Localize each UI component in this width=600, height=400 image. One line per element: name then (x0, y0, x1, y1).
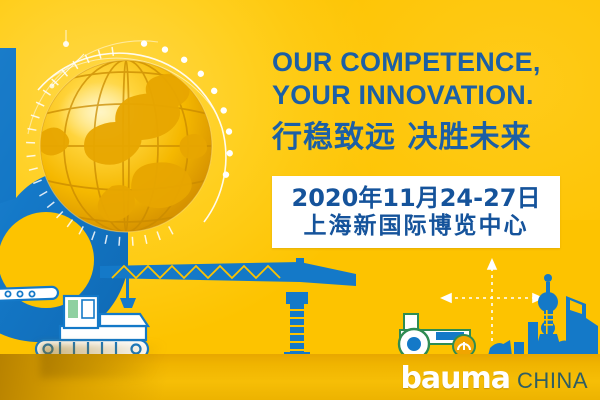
logo-region-text: CHINA (517, 370, 588, 392)
golden-globe-graphic (8, 24, 260, 276)
shanghai-skyline (486, 274, 598, 361)
road-roller-icon (399, 314, 475, 359)
logo-brand-text: bauma (400, 364, 510, 394)
bauma-china-logo: bauma CHINA (400, 364, 588, 398)
event-date: 2020年11月24-27日 (292, 184, 541, 212)
headline-block: OUR COMPETENCE, YOUR INNOVATION. 行稳致远 决胜… (272, 46, 588, 158)
date-venue-panel: 2020年11月24-27日 上海新国际博览中心 (272, 176, 560, 248)
poster-canvas: OUR COMPETENCE, YOUR INNOVATION. 行稳致远 决胜… (0, 0, 600, 400)
headline-line-2: YOUR INNOVATION. (272, 79, 588, 112)
event-venue: 上海新国际博览中心 (304, 212, 529, 240)
headline-line-1: OUR COMPETENCE, (272, 46, 588, 79)
bottom-left-shadow-soft (40, 344, 210, 378)
headline-chinese: 行稳致远 决胜未来 (272, 118, 588, 158)
